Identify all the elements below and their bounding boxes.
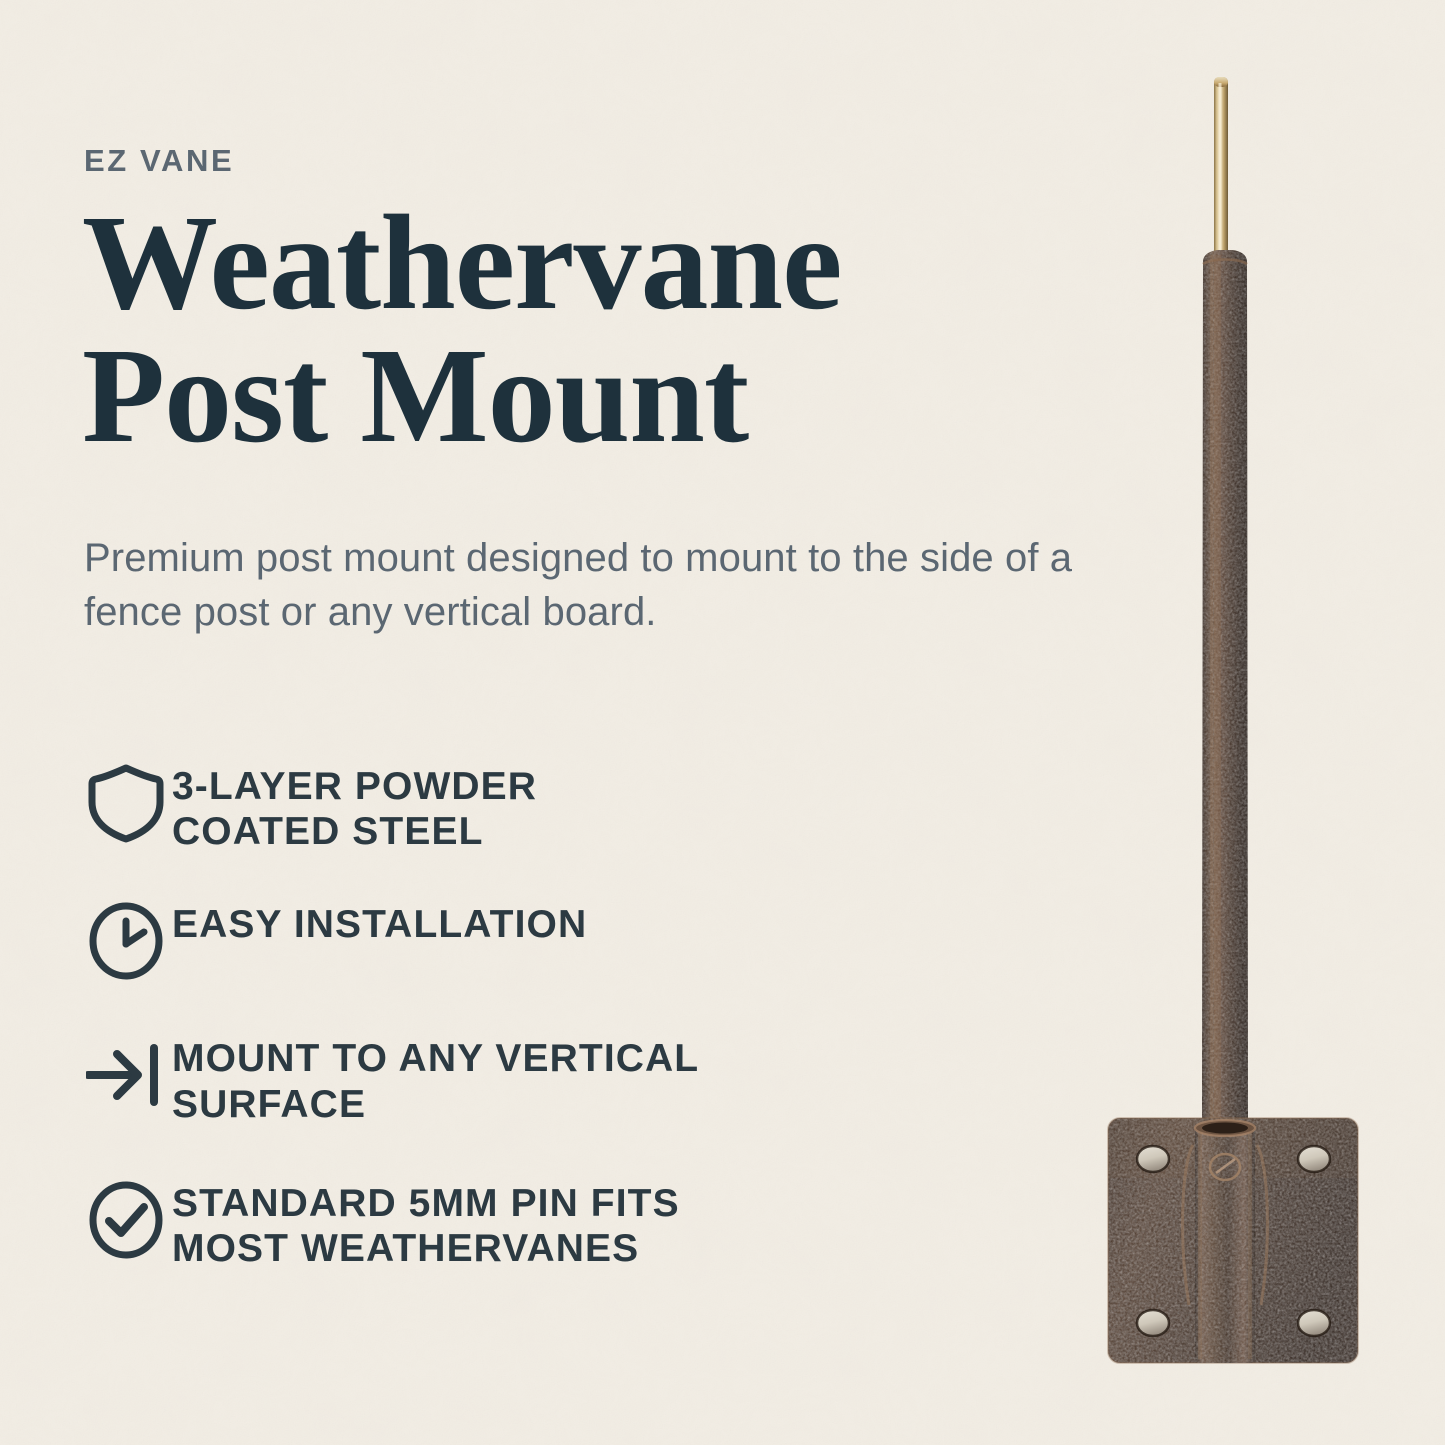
feature-label: EASY INSTALLATION (172, 900, 1092, 947)
product-pin (1213, 77, 1229, 269)
feature-item-mount-vertical: MOUNT TO ANY VERTICAL SURFACE (82, 1034, 1092, 1126)
shield-icon (82, 762, 172, 844)
brand-name: EZ VANE (84, 145, 234, 176)
feature-label-line1: EASY INSTALLATION (172, 902, 1092, 947)
infographic-page: EZ VANE Weathervane Post Mount Premium p… (0, 0, 1445, 1445)
feature-label: STANDARD 5MM PIN FITS MOST WEATHERVANES (172, 1179, 1092, 1271)
page-subtitle: Premium post mount designed to mount to … (84, 532, 1094, 639)
feature-label-line2: COATED STEEL (172, 809, 1092, 854)
feature-item-powder-coated: 3-LAYER POWDER COATED STEEL (82, 762, 1092, 854)
feature-label-line1: STANDARD 5MM PIN FITS (172, 1181, 1092, 1226)
feature-label-line2: MOST WEATHERVANES (172, 1226, 1092, 1271)
feature-item-easy-installation: EASY INSTALLATION (82, 900, 1092, 982)
page-title: Weathervane Post Mount (82, 197, 1082, 464)
product-pole (1195, 245, 1259, 1145)
page-subtitle-line1: Premium post mount designed to mount to (84, 536, 842, 580)
mounting-hole (1137, 1310, 1169, 1336)
feature-label-line1: 3-LAYER POWDER (172, 764, 1092, 809)
mounting-hole (1137, 1146, 1169, 1172)
page-title-line2: Post Mount (82, 330, 1082, 463)
mounting-hole (1298, 1146, 1330, 1172)
feature-item-5mm-pin: STANDARD 5MM PIN FITS MOST WEATHERVANES (82, 1179, 1092, 1271)
feature-label-line2: SURFACE (172, 1082, 1092, 1127)
product-image (1085, 55, 1385, 1385)
feature-label: 3-LAYER POWDER COATED STEEL (172, 762, 1092, 854)
feature-label: MOUNT TO ANY VERTICAL SURFACE (172, 1034, 1092, 1126)
mounting-hole (1298, 1310, 1330, 1336)
check-circle-icon (82, 1179, 172, 1261)
feature-list: 3-LAYER POWDER COATED STEEL EASY INSTALL… (82, 762, 1092, 1271)
page-title-line1: Weathervane (82, 188, 842, 338)
collar-sleeve (1183, 1120, 1268, 1363)
feature-label-line1: MOUNT TO ANY VERTICAL (172, 1036, 1092, 1081)
arrow-to-line-icon (82, 1034, 172, 1116)
text-column: EZ VANE Weathervane Post Mount Premium p… (82, 0, 1092, 1445)
clock-icon (82, 900, 172, 982)
